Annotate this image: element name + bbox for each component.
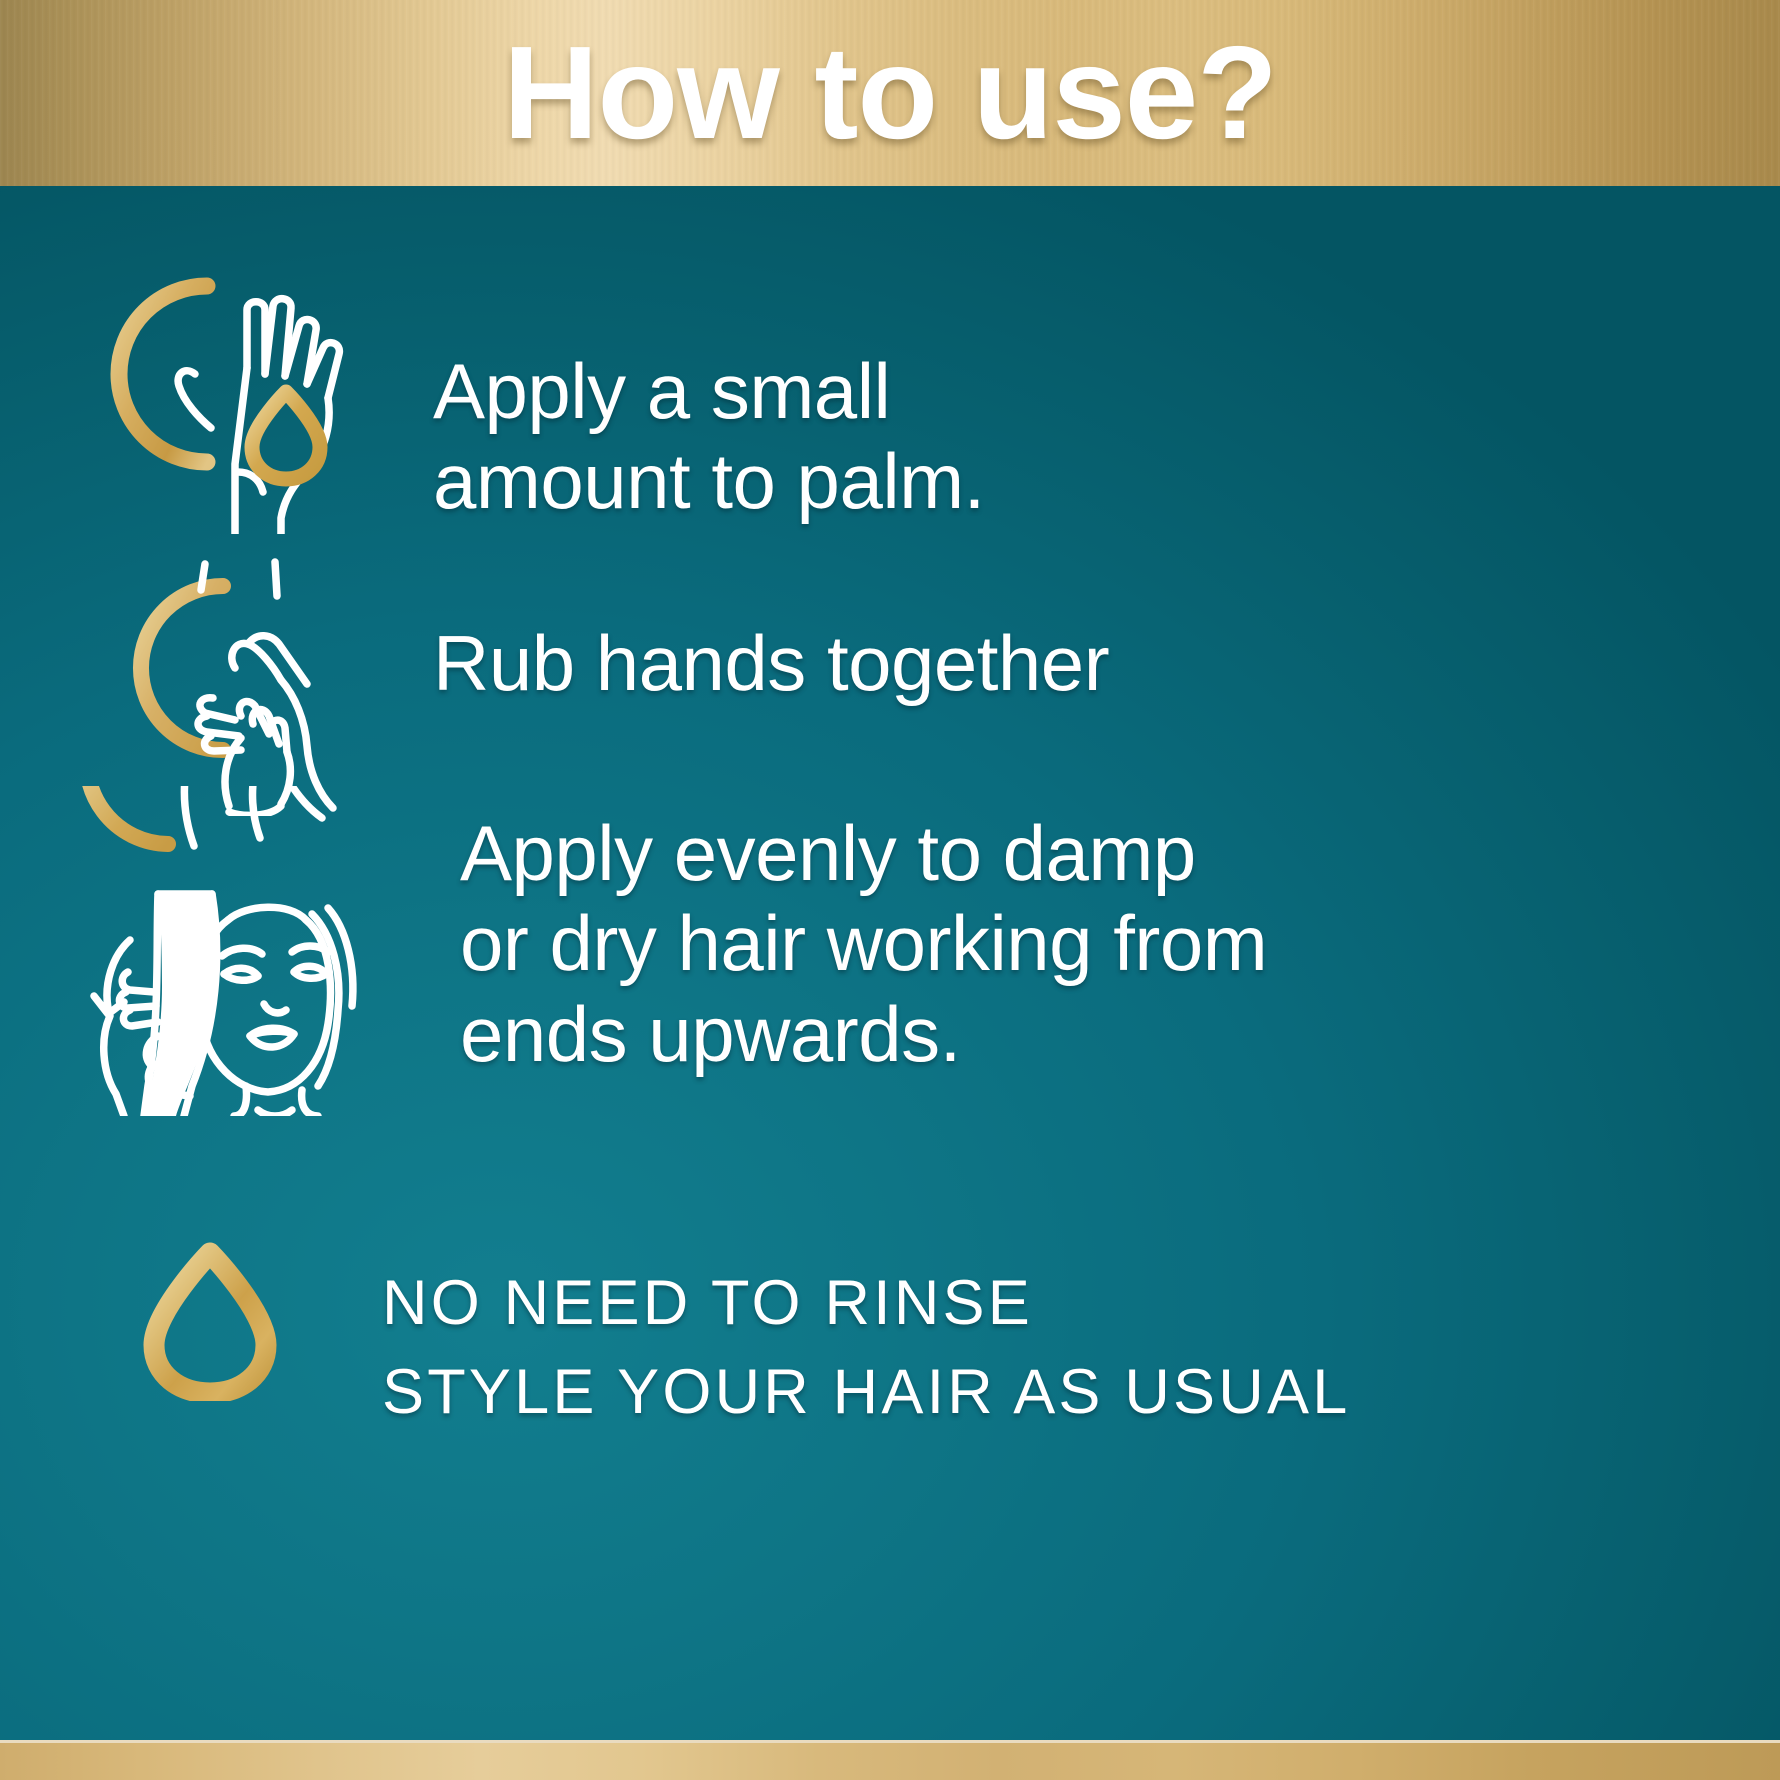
- oil-droplet-icon: [140, 1241, 280, 1401]
- hand-with-oil-drop-icon: [95, 274, 385, 534]
- step-label: Apply a small amount to palm.: [433, 346, 985, 527]
- rubbing-hands-icon: [95, 556, 385, 816]
- list-item: NO NEED TO RINSE STYLE YOUR HAIR AS USUA…: [140, 1241, 1350, 1438]
- step-label: NO NEED TO RINSE STYLE YOUR HAIR AS USUA…: [382, 1259, 1350, 1438]
- page-title: How to use?: [0, 0, 1780, 186]
- step-label: Rub hands together: [433, 618, 1109, 708]
- step-label: Apply evenly to damp or dry hair working…: [460, 808, 1267, 1079]
- list-item: Rub hands together: [95, 556, 1109, 816]
- list-item: Apply evenly to damp or dry hair working…: [50, 786, 1267, 1116]
- list-item: Apply a small amount to palm.: [95, 274, 985, 534]
- body-panel: Apply a small amount to palm.: [0, 186, 1780, 1740]
- steps-list: Apply a small amount to palm.: [0, 186, 1780, 1740]
- how-to-use-infographic: How to use?: [0, 0, 1780, 1780]
- woman-applying-to-hair-icon: [50, 786, 390, 1116]
- footer-gold-band: [0, 1740, 1780, 1780]
